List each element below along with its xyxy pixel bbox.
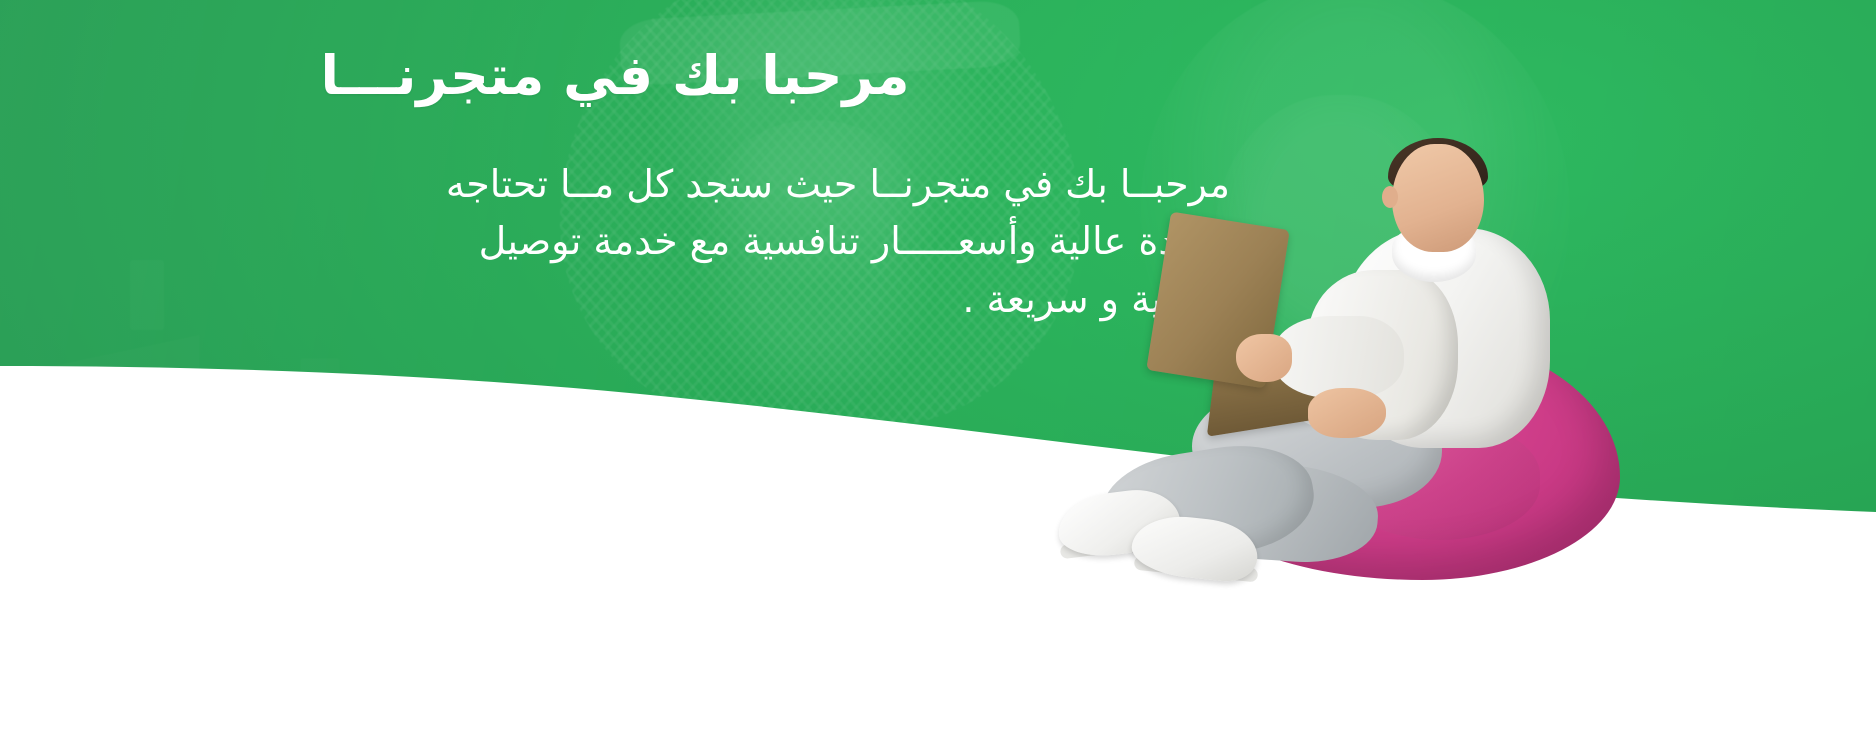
- page-title: مرحبا بك في متجرنـــا: [0, 0, 1230, 108]
- person-head: [1392, 144, 1484, 252]
- person-hand-right: [1308, 388, 1386, 438]
- background-shape-b: [300, 358, 340, 478]
- man-on-beanbag-photo: [1040, 120, 1660, 580]
- person-ear: [1382, 186, 1398, 208]
- welcome-hero-banner: مرحبا بك في متجرنـــا مرحبــا بك في متجر…: [0, 0, 1876, 741]
- background-shape-c: [520, 400, 660, 580]
- person-hand-left: [1236, 334, 1292, 382]
